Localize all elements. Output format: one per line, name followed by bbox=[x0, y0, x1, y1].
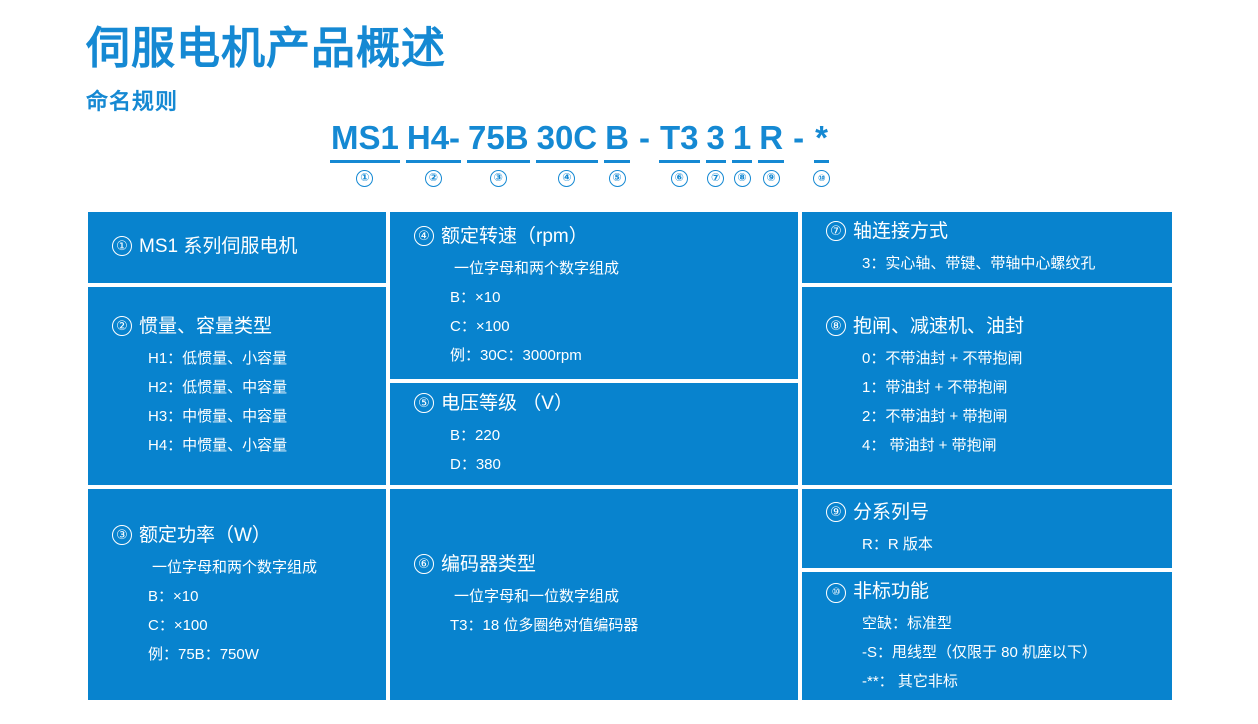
spec-cell-lines: 一位字母和一位数字组成 T3：18 位多圈绝对值编码器 bbox=[414, 582, 788, 640]
spec-line: -S：甩线型（仅限于 80 机座以下） bbox=[862, 638, 1162, 667]
spec-cell-title: ②惯量、容量类型 bbox=[112, 312, 376, 342]
spec-cell-title-text: 分系列号 bbox=[853, 502, 929, 523]
marker-icon: ⑨ bbox=[826, 502, 846, 522]
spec-cell-lines: H1：低惯量、小容量 H2：低惯量、中容量 H3：中惯量、中容量 H4：中惯量、… bbox=[112, 344, 376, 460]
spec-line: 一位字母和一位数字组成 bbox=[450, 582, 788, 611]
spec-cell-title-text: 轴连接方式 bbox=[853, 221, 948, 242]
code-token: R bbox=[758, 118, 784, 163]
spec-line: 例：75B：750W bbox=[148, 640, 376, 669]
code-group-4: 30C ④ bbox=[536, 118, 599, 187]
spec-line: C：×100 bbox=[148, 611, 376, 640]
marker-icon: ⑥ bbox=[414, 554, 434, 574]
spec-line: B：220 bbox=[450, 421, 788, 450]
code-group-10: * ⑩ bbox=[813, 118, 830, 187]
marker-icon: ⑦ bbox=[826, 221, 846, 241]
code-index: ⑦ bbox=[707, 170, 724, 187]
marker-icon: ⑤ bbox=[414, 393, 434, 413]
code-group-3: 75B ③ bbox=[467, 118, 530, 187]
marker-icon: ⑩ bbox=[826, 583, 846, 603]
spec-line: 4： 带油封 + 带抱闸 bbox=[862, 431, 1162, 460]
spec-line: H1：低惯量、小容量 bbox=[148, 344, 376, 373]
spec-cell-title-text: 编码器类型 bbox=[441, 554, 536, 575]
code-group-7: 3 ⑦ bbox=[706, 118, 726, 187]
spec-cell-title-text: 非标功能 bbox=[853, 581, 929, 602]
spec-cell-5: ⑤电压等级 （V） B：220 D：380 bbox=[390, 383, 798, 485]
spec-line: T3：18 位多圈绝对值编码器 bbox=[450, 611, 788, 640]
code-token: 1 bbox=[732, 118, 752, 163]
code-group-8: 1 ⑧ bbox=[732, 118, 752, 187]
spec-column-1: ①MS1 系列伺服电机 ②惯量、容量类型 H1：低惯量、小容量 H2：低惯量、中… bbox=[88, 212, 386, 700]
spec-line: 0：不带油封 + 不带抱闸 bbox=[862, 344, 1162, 373]
spec-cell-lines: 0：不带油封 + 不带抱闸 1：带油封 + 不带抱闸 2：不带油封 + 带抱闸 … bbox=[826, 344, 1162, 460]
code-token: T3 bbox=[659, 118, 700, 163]
code-token: 3 bbox=[706, 118, 726, 163]
code-separator-2: - bbox=[790, 118, 807, 187]
code-token: - bbox=[792, 118, 805, 163]
spec-cell-title: ①MS1 系列伺服电机 bbox=[112, 232, 376, 262]
spec-cell-1: ①MS1 系列伺服电机 bbox=[88, 212, 386, 283]
spec-cell-8: ⑧抱闸、减速机、油封 0：不带油封 + 不带抱闸 1：带油封 + 不带抱闸 2：… bbox=[802, 287, 1172, 485]
spec-line: H4：中惯量、小容量 bbox=[148, 431, 376, 460]
code-token: 75B bbox=[467, 118, 530, 163]
code-token: H4- bbox=[406, 118, 461, 163]
spec-line: C：×100 bbox=[450, 312, 788, 341]
spec-cell-2: ②惯量、容量类型 H1：低惯量、小容量 H2：低惯量、中容量 H3：中惯量、中容… bbox=[88, 287, 386, 485]
code-index: ④ bbox=[558, 170, 575, 187]
spec-cell-7: ⑦轴连接方式 3：实心轴、带键、带轴中心螺纹孔 bbox=[802, 212, 1172, 283]
code-index: ⑥ bbox=[671, 170, 688, 187]
spec-line: 3：实心轴、带键、带轴中心螺纹孔 bbox=[862, 249, 1162, 278]
spec-cell-lines: 一位字母和两个数字组成 B：×10 C：×100 例：30C：3000rpm bbox=[414, 254, 788, 370]
spec-cell-title-text: 惯量、容量类型 bbox=[139, 316, 272, 337]
marker-icon: ⑧ bbox=[826, 316, 846, 336]
code-index: ⑤ bbox=[609, 170, 626, 187]
marker-icon: ① bbox=[112, 236, 132, 256]
spec-cell-3: ③额定功率（W） 一位字母和两个数字组成 B：×10 C：×100 例：75B：… bbox=[88, 489, 386, 700]
marker-icon: ④ bbox=[414, 226, 434, 246]
naming-rule-table: ①MS1 系列伺服电机 ②惯量、容量类型 H1：低惯量、小容量 H2：低惯量、中… bbox=[88, 212, 1172, 700]
code-separator-1: - bbox=[636, 118, 653, 187]
code-group-5: B ⑤ bbox=[604, 118, 630, 187]
marker-icon: ② bbox=[112, 316, 132, 336]
spec-cell-9: ⑨分系列号 R：R 版本 bbox=[802, 489, 1172, 568]
spec-cell-title: ③额定功率（W） bbox=[112, 521, 376, 551]
spec-cell-lines: 3：实心轴、带键、带轴中心螺纹孔 bbox=[826, 249, 1162, 278]
spec-line: 2：不带油封 + 带抱闸 bbox=[862, 402, 1162, 431]
page-subtitle: 命名规则 bbox=[86, 84, 178, 116]
spec-cell-title-text: 抱闸、减速机、油封 bbox=[853, 316, 1024, 337]
spec-cell-title-text: 额定功率（W） bbox=[139, 525, 271, 546]
spec-cell-title: ⑥编码器类型 bbox=[414, 550, 788, 580]
marker-icon: ③ bbox=[112, 525, 132, 545]
code-index: ③ bbox=[490, 170, 507, 187]
spec-line: -**： 其它非标 bbox=[862, 667, 1162, 696]
code-index: ⑧ bbox=[734, 170, 751, 187]
spec-cell-title: ⑦轴连接方式 bbox=[826, 217, 1162, 247]
spec-cell-title-text: 电压等级 （V） bbox=[441, 393, 573, 414]
code-token: B bbox=[604, 118, 630, 163]
code-group-6: T3 ⑥ bbox=[659, 118, 700, 187]
code-token: - bbox=[638, 118, 651, 163]
spec-line: 空缺：标准型 bbox=[862, 609, 1162, 638]
spec-line: 1：带油封 + 不带抱闸 bbox=[862, 373, 1162, 402]
spec-line: 一位字母和两个数字组成 bbox=[148, 553, 376, 582]
code-group-2: H4- ② bbox=[406, 118, 461, 187]
spec-column-2: ④额定转速（rpm） 一位字母和两个数字组成 B：×10 C：×100 例：30… bbox=[390, 212, 798, 700]
spec-cell-title: ⑧抱闸、减速机、油封 bbox=[826, 312, 1162, 342]
spec-line: B：×10 bbox=[450, 283, 788, 312]
spec-cell-lines: 一位字母和两个数字组成 B：×10 C：×100 例：75B：750W bbox=[112, 553, 376, 669]
spec-line: 例：30C：3000rpm bbox=[450, 341, 788, 370]
spec-cell-title: ⑨分系列号 bbox=[826, 498, 1162, 528]
spec-line: D：380 bbox=[450, 450, 788, 479]
code-token: MS1 bbox=[330, 118, 400, 163]
spec-cell-title-text: MS1 系列伺服电机 bbox=[139, 236, 297, 257]
code-index: ⑨ bbox=[763, 170, 780, 187]
spec-cell-lines: R：R 版本 bbox=[826, 530, 1162, 559]
spec-cell-title: ④额定转速（rpm） bbox=[414, 222, 788, 252]
spec-line: 一位字母和两个数字组成 bbox=[450, 254, 788, 283]
page-title: 伺服电机产品概述 bbox=[86, 12, 446, 76]
spec-cell-10: ⑩非标功能 空缺：标准型 -S：甩线型（仅限于 80 机座以下） -**： 其它… bbox=[802, 572, 1172, 700]
code-group-9: R ⑨ bbox=[758, 118, 784, 187]
code-index: ① bbox=[356, 170, 373, 187]
spec-line: B：×10 bbox=[148, 582, 376, 611]
spec-cell-lines: B：220 D：380 bbox=[414, 421, 788, 479]
spec-line: R：R 版本 bbox=[862, 530, 1162, 559]
spec-column-3: ⑦轴连接方式 3：实心轴、带键、带轴中心螺纹孔 ⑧抱闸、减速机、油封 0：不带油… bbox=[802, 212, 1172, 700]
spec-cell-6: ⑥编码器类型 一位字母和一位数字组成 T3：18 位多圈绝对值编码器 bbox=[390, 489, 798, 700]
spec-cell-title: ⑤电压等级 （V） bbox=[414, 389, 788, 419]
spec-line: H3：中惯量、中容量 bbox=[148, 402, 376, 431]
spec-cell-title-text: 额定转速（rpm） bbox=[441, 226, 588, 247]
code-index bbox=[790, 170, 807, 187]
code-index bbox=[636, 170, 653, 187]
spec-cell-lines: 空缺：标准型 -S：甩线型（仅限于 80 机座以下） -**： 其它非标 bbox=[826, 609, 1162, 696]
code-index: ② bbox=[425, 170, 442, 187]
spec-line: H2：低惯量、中容量 bbox=[148, 373, 376, 402]
code-group-1: MS1 ① bbox=[330, 118, 400, 187]
code-token: * bbox=[814, 118, 829, 163]
code-index: ⑩ bbox=[813, 170, 830, 187]
code-token: 30C bbox=[536, 118, 599, 163]
model-code-diagram: MS1 ① H4- ② 75B ③ 30C ④ B ⑤ - T3 ⑥ 3 ⑦ 1… bbox=[330, 118, 830, 187]
spec-cell-title: ⑩非标功能 bbox=[826, 577, 1162, 607]
spec-cell-4: ④额定转速（rpm） 一位字母和两个数字组成 B：×10 C：×100 例：30… bbox=[390, 212, 798, 379]
